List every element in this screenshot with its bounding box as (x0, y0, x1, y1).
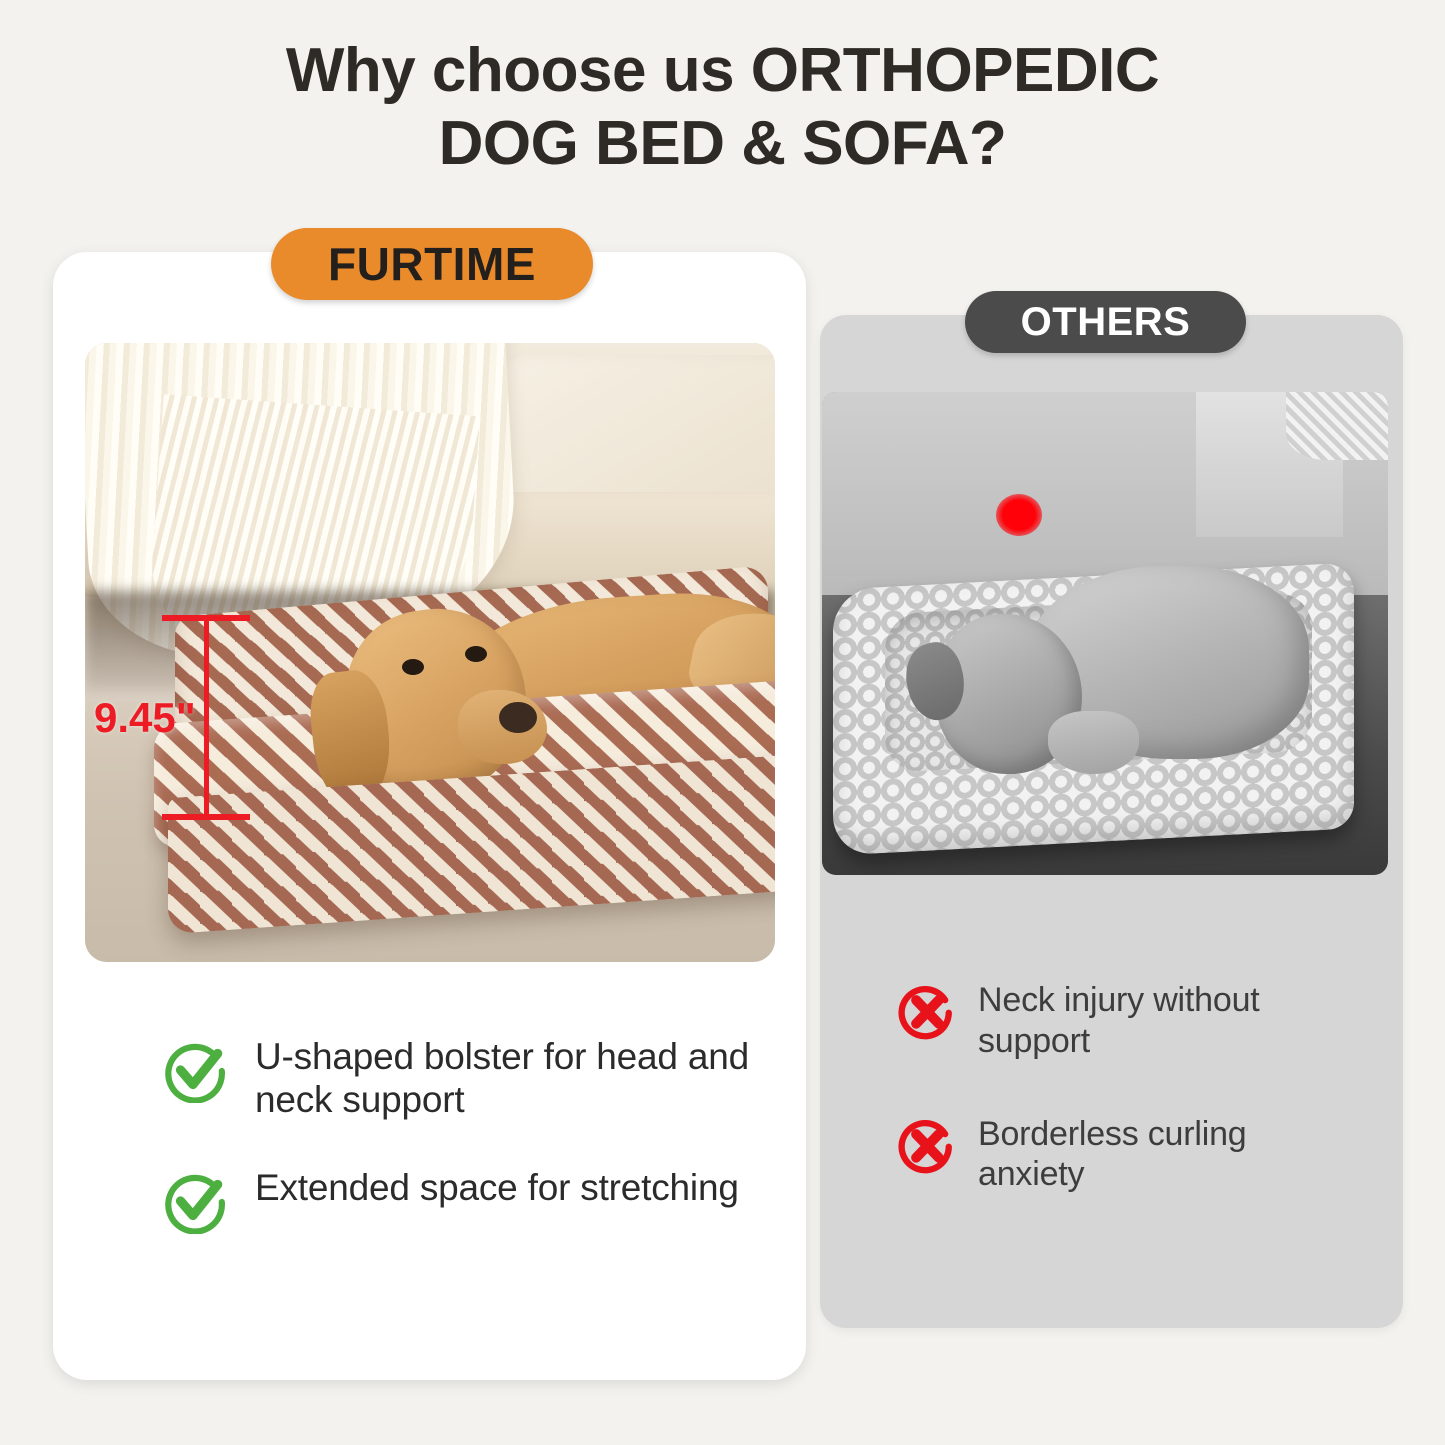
photo-curled-dog-paw (1048, 711, 1139, 774)
page-title: Why choose us ORTHOPEDIC DOG BED & SOFA? (0, 34, 1445, 180)
red-x-circle-icon (898, 982, 956, 1040)
photo-retriever-eye-right (465, 646, 487, 662)
list-item: Neck injury without support (898, 980, 1338, 1062)
list-item-label: Borderless curling anxiety (978, 1114, 1338, 1196)
others-badge: OTHERS (965, 291, 1246, 353)
list-item-label: Neck injury without support (978, 980, 1338, 1062)
measurement-cap-bottom (162, 814, 250, 820)
height-measurement-annotation: 9.45" (150, 615, 280, 820)
list-item: Extended space for stretching (163, 1166, 763, 1234)
list-item-label: Extended space for stretching (255, 1166, 739, 1209)
measurement-value: 9.45" (94, 694, 196, 742)
neck-pain-marker-icon (996, 494, 1042, 536)
furtime-badge-label: FURTIME (328, 237, 536, 291)
list-item-label: U-shaped bolster for head and neck suppo… (255, 1035, 763, 1122)
green-check-circle-icon (163, 1168, 229, 1234)
red-x-circle-icon (898, 1116, 956, 1174)
list-item: U-shaped bolster for head and neck suppo… (163, 1035, 763, 1122)
others-product-photo (822, 392, 1388, 875)
benefits-list: U-shaped bolster for head and neck suppo… (163, 1035, 763, 1278)
furtime-badge: FURTIME (271, 228, 593, 300)
photo-retriever-eye-left (402, 659, 424, 675)
others-badge-label: OTHERS (1021, 300, 1191, 345)
photo-retriever-nose (499, 702, 537, 733)
measurement-line (204, 615, 209, 820)
list-item: Borderless curling anxiety (898, 1114, 1338, 1196)
photo-lace-curtain (1286, 392, 1388, 460)
green-check-circle-icon (163, 1037, 229, 1103)
drawbacks-list: Neck injury without support Borderless c… (898, 980, 1338, 1247)
